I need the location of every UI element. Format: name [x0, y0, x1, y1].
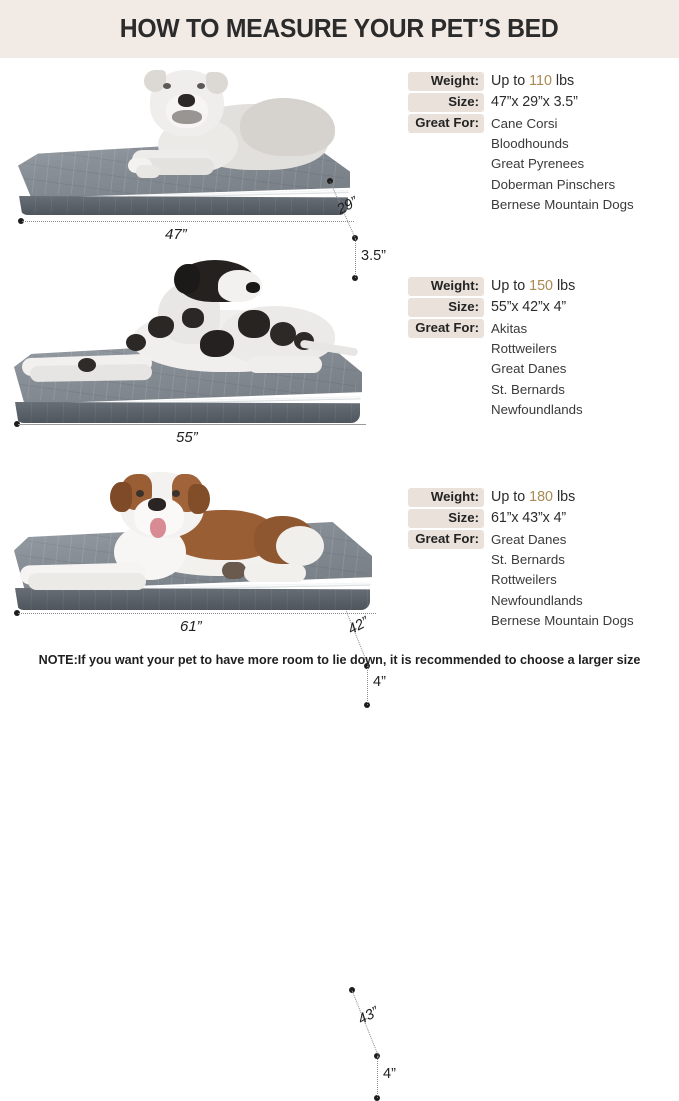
- bed-graphic-small: [18, 138, 350, 216]
- list-item: Great Danes: [491, 359, 679, 379]
- breed-list-small: Cane Corsi Bloodhounds Great Pyrenees Do…: [491, 114, 679, 215]
- weight-suffix: lbs: [553, 489, 575, 505]
- dim-label-height: 4”: [383, 1066, 396, 1082]
- list-item: Bernese Mountain Dogs: [491, 195, 679, 215]
- spec-label-size: Size:: [408, 298, 484, 317]
- list-item: Bloodhounds: [491, 134, 679, 154]
- dim-label-width: 61”: [180, 618, 202, 635]
- dim-label-width: 47”: [165, 226, 187, 243]
- page-title: HOW TO MEASURE YOUR PET’S BED: [120, 15, 559, 44]
- list-item: Doberman Pinschers: [491, 175, 679, 195]
- spec-panel-small: Weight: Up to 110 lbs Size: 47”x 29”x 3.…: [408, 72, 679, 215]
- list-item: Rottweilers: [491, 339, 679, 359]
- spec-value-weight: Up to 110 lbs: [491, 72, 679, 91]
- list-item: St. Bernards: [491, 380, 679, 400]
- bed-top-surface: [14, 338, 362, 404]
- spec-panel-medium: Weight: Up to 150 lbs Size: 55”x 42”x 4”…: [408, 277, 679, 420]
- spec-value-size: 55”x 42”x 4”: [491, 298, 679, 317]
- weight-prefix: Up to: [491, 489, 529, 505]
- list-item: Great Danes: [491, 530, 679, 550]
- bed-illustration-medium: 42” 4” 55”: [0, 260, 400, 470]
- weight-value: 150: [529, 278, 553, 294]
- dim-line-width: [22, 221, 354, 222]
- spec-panel-large: Weight: Up to 180 lbs Size: 61”x 43”x 4”…: [408, 488, 679, 631]
- dim-label-height: 4”: [373, 674, 386, 690]
- list-item: Cane Corsi: [491, 114, 679, 134]
- weight-value: 180: [529, 489, 553, 505]
- spec-label-size: Size:: [408, 93, 484, 112]
- page-header: HOW TO MEASURE YOUR PET’S BED: [0, 0, 679, 58]
- spec-label-weight: Weight:: [408, 277, 484, 296]
- list-item: Bernese Mountain Dogs: [491, 611, 679, 631]
- dim-line-width: [18, 424, 366, 425]
- bed-top-surface: [18, 138, 350, 198]
- dim-line-height: [377, 1056, 378, 1098]
- weight-suffix: lbs: [553, 278, 575, 294]
- spec-label-great-for: Great For:: [408, 530, 484, 549]
- bed-row-medium: 42” 4” 55” Weight: Up to 150 lbs Size: 5…: [0, 260, 679, 470]
- spec-label-great-for: Great For:: [408, 319, 484, 338]
- spec-label-weight: Weight:: [408, 488, 484, 507]
- bed-graphic-large: [14, 522, 372, 610]
- bed-side-panel: [15, 588, 370, 610]
- bed-row-small: 29” 3.5” 47” Weight: Up to 110 lbs Size:…: [0, 58, 679, 260]
- list-item: Newfoundlands: [491, 591, 679, 611]
- list-item: St. Bernards: [491, 550, 679, 570]
- breed-list-large: Great Danes St. Bernards Rottweilers New…: [491, 530, 679, 631]
- spec-label-weight: Weight:: [408, 72, 484, 91]
- bed-illustration-small: 29” 3.5” 47”: [0, 58, 400, 260]
- spec-value-size: 47”x 29”x 3.5”: [491, 93, 679, 112]
- weight-prefix: Up to: [491, 278, 529, 294]
- spec-value-weight: Up to 150 lbs: [491, 277, 679, 296]
- weight-value: 110: [529, 73, 552, 89]
- weight-suffix: lbs: [552, 73, 574, 89]
- bed-row-large: 43” 4” 61” Weight: Up to 180 lbs Size: 6…: [0, 470, 679, 660]
- bed-illustration-large: 43” 4” 61”: [0, 470, 400, 660]
- spec-label-great-for: Great For:: [408, 114, 484, 133]
- dim-line-width: [18, 613, 376, 614]
- list-item: Akitas: [491, 319, 679, 339]
- list-item: Great Pyrenees: [491, 154, 679, 174]
- bed-top-surface: [14, 522, 372, 590]
- spec-value-weight: Up to 180 lbs: [491, 488, 679, 507]
- bed-side-panel: [19, 196, 348, 215]
- list-item: Newfoundlands: [491, 400, 679, 420]
- breed-list-medium: Akitas Rottweilers Great Danes St. Berna…: [491, 319, 679, 420]
- dim-label-width: 55”: [176, 429, 198, 446]
- list-item: Rottweilers: [491, 570, 679, 590]
- weight-prefix: Up to: [491, 73, 529, 89]
- spec-label-size: Size:: [408, 509, 484, 528]
- spec-value-size: 61”x 43”x 4”: [491, 509, 679, 528]
- bed-graphic-medium: [14, 338, 362, 424]
- footer-note: NOTE:If you want your pet to have more r…: [0, 653, 679, 667]
- bed-side-panel: [15, 402, 360, 423]
